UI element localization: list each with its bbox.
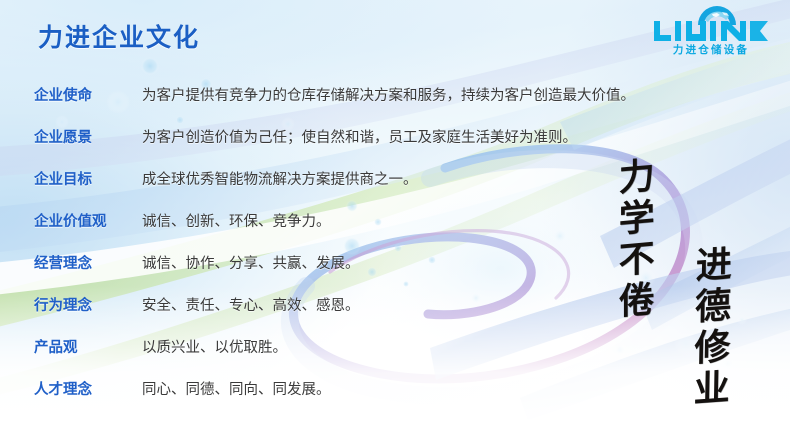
calligraphy-left-column: 进德修业 (690, 244, 730, 411)
logo-wordmark (652, 20, 770, 42)
company-culture-banner: 力进企业文化 力进仓储设备 (0, 0, 790, 433)
culture-label: 经营理念 (34, 252, 142, 273)
culture-label: 企业愿景 (34, 126, 142, 147)
culture-list: 企业使命 为客户提供有竞争力的仓库存储解决方案和服务，持续为客户创造最大价值。 … (0, 84, 700, 420)
culture-label: 企业使命 (34, 84, 142, 105)
culture-row-product: 产品观 以质兴业、以优取胜。 (0, 336, 700, 378)
culture-text: 为客户创造价值为己任；使自然和谐，员工及家庭生活美好为准则。 (142, 126, 577, 147)
culture-text: 为客户提供有竞争力的仓库存储解决方案和服务，持续为客户创造最大价值。 (142, 84, 635, 105)
culture-row-vision: 企业愿景 为客户创造价值为己任；使自然和谐，员工及家庭生活美好为准则。 (0, 126, 700, 168)
culture-text: 安全、责任、专心、高效、感恩。 (142, 294, 360, 315)
culture-label: 人才理念 (34, 378, 142, 399)
culture-label: 企业目标 (34, 168, 142, 189)
culture-row-values: 企业价值观 诚信、创新、环保、竞争力。 (0, 210, 700, 252)
culture-text: 同心、同德、同向、同发展。 (142, 378, 331, 399)
culture-text: 诚信、协作、分享、共赢、发展。 (142, 252, 360, 273)
culture-text: 诚信、创新、环保、竞争力。 (142, 210, 331, 231)
culture-label: 产品观 (34, 336, 142, 357)
culture-row-mission: 企业使命 为客户提供有竞争力的仓库存储解决方案和服务，持续为客户创造最大价值。 (0, 84, 700, 126)
culture-row-management: 经营理念 诚信、协作、分享、共赢、发展。 (0, 252, 700, 294)
culture-row-talent: 人才理念 同心、同德、同向、同发展。 (0, 378, 700, 420)
culture-label: 企业价值观 (34, 210, 142, 231)
culture-text: 以质兴业、以优取胜。 (142, 336, 287, 357)
culture-row-behavior: 行为理念 安全、责任、专心、高效、感恩。 (0, 294, 700, 336)
logo-subtitle: 力进仓储设备 (652, 42, 770, 57)
company-logo[interactable]: 力进仓储设备 (644, 6, 776, 58)
calligraphy-right-column: 力学不倦 (615, 156, 652, 324)
culture-text: 成全球优秀智能物流解决方案提供商之一。 (142, 168, 418, 189)
page-title: 力进企业文化 (38, 18, 200, 54)
culture-row-goal: 企业目标 成全球优秀智能物流解决方案提供商之一。 (0, 168, 700, 210)
culture-label: 行为理念 (34, 294, 142, 315)
